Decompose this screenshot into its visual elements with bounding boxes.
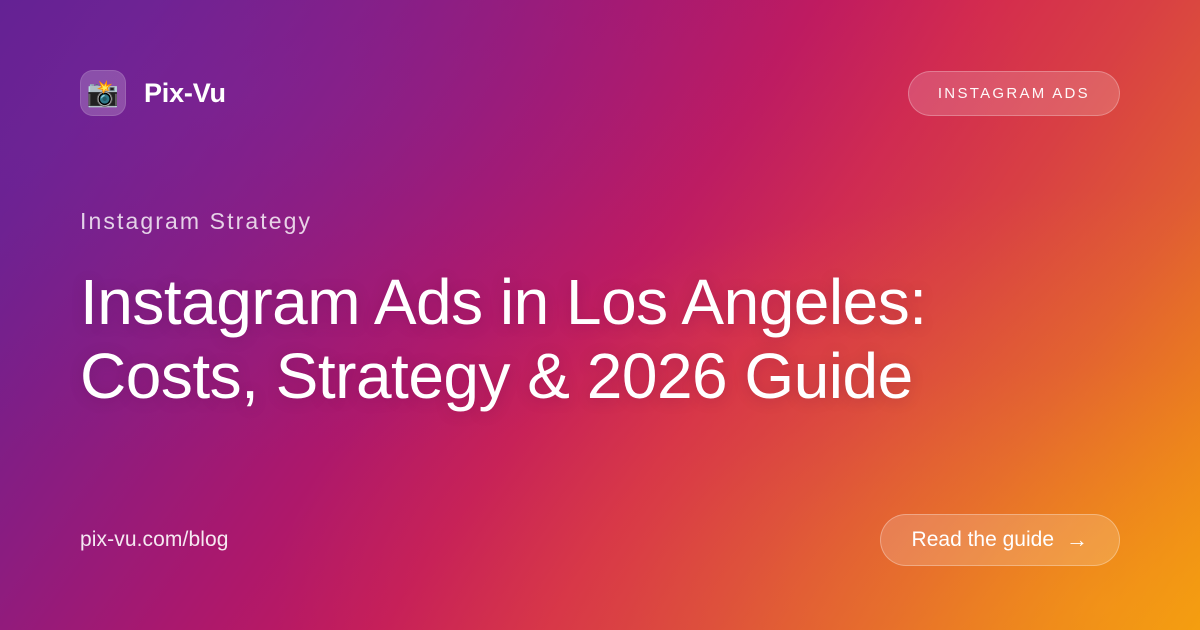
social-share-card: 📸 Pix-Vu INSTAGRAM ADS Instagram Strateg…: [0, 0, 1200, 630]
camera-with-flash-icon: 📸: [80, 70, 126, 116]
card-main: Instagram Strategy Instagram Ads in Los …: [80, 124, 1120, 514]
brand-lockup[interactable]: 📸 Pix-Vu: [80, 70, 226, 116]
read-the-guide-button[interactable]: Read the guide →: [880, 514, 1120, 566]
headline-line-2: Costs, Strategy & 2026 Guide: [80, 339, 1040, 413]
brand-name: Pix-Vu: [144, 78, 226, 109]
card-footer: pix-vu.com/blog Read the guide →: [80, 514, 1120, 566]
category-badge: INSTAGRAM ADS: [908, 71, 1120, 116]
headline-line-1: Instagram Ads in Los Angeles:: [80, 265, 1040, 339]
eyebrow-label: Instagram Strategy: [80, 208, 1120, 235]
cta-label: Read the guide: [912, 528, 1054, 552]
arrow-right-icon: →: [1066, 529, 1088, 551]
page-title: Instagram Ads in Los Angeles: Costs, Str…: [80, 265, 1040, 413]
card-content: 📸 Pix-Vu INSTAGRAM ADS Instagram Strateg…: [0, 0, 1200, 630]
site-url-label: pix-vu.com/blog: [80, 528, 229, 552]
card-header: 📸 Pix-Vu INSTAGRAM ADS: [80, 62, 1120, 124]
